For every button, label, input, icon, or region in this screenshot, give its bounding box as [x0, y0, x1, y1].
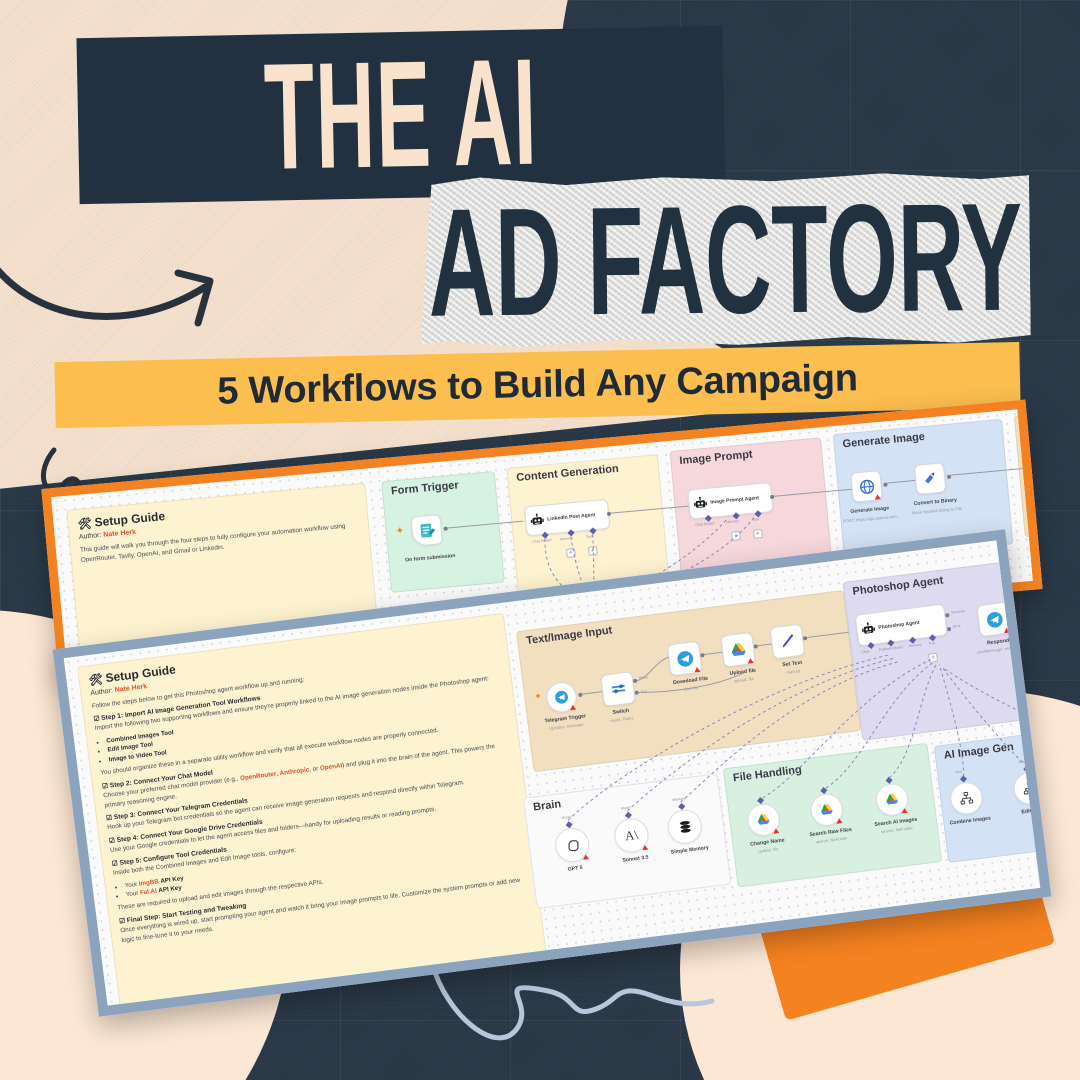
warning-icon [747, 658, 754, 664]
sticky-title-generate-image: Generate Image [842, 431, 925, 450]
node-label-photoshop-agent: Photoshop Agent [878, 620, 920, 631]
warning-icon [1003, 628, 1010, 634]
sticky-title-content-generation: Content Generation [516, 463, 619, 484]
sticky-title-image-prompt: Image Prompt [679, 449, 753, 468]
trigger-spark-icon: ✦ [395, 525, 404, 537]
node-download-file[interactable] [667, 641, 703, 677]
telegram-icon [675, 649, 694, 668]
hammer-and-wrench-icon: 🛠 [88, 674, 103, 688]
warning-icon [642, 845, 649, 851]
warning-icon [901, 808, 908, 814]
setup-guide-author-name-top: Nate Herk [103, 529, 136, 539]
sticky-title-text-image-input: Text/Image Input [526, 624, 613, 647]
warning-icon [773, 828, 780, 834]
warning-icon [582, 854, 589, 860]
sticky-title-form-trigger: Form Trigger [391, 479, 460, 497]
term-openai: OpenAI [320, 762, 343, 772]
sticky-title-photoshop-agent: Photoshop Agent [852, 574, 944, 597]
node-respond[interactable] [976, 601, 1012, 637]
form-icon [418, 521, 436, 539]
hammer-and-wrench-icon: 🛠 [77, 518, 92, 531]
setup-guide-note-bottom[interactable]: 🛠Setup Guide Author: Nate Herk Follow th… [77, 613, 547, 1006]
warning-icon [874, 494, 880, 500]
robot-icon [861, 621, 877, 637]
node-label-linkedin-post-agent: LinkedIn Post Agent [547, 512, 596, 522]
term-falai: Fal.AI [140, 887, 158, 896]
globe-icon [857, 477, 875, 495]
convert-icon [921, 469, 939, 487]
robot-icon [693, 496, 708, 511]
poster-title-line-2-text: AD FACTORY [427, 169, 1023, 352]
node-convert-to-binary[interactable] [914, 462, 947, 495]
warning-icon [694, 667, 701, 673]
robot-icon [530, 513, 545, 528]
node-set-text[interactable] [769, 624, 805, 660]
node-upload-file[interactable] [720, 632, 756, 668]
setup-guide-author-name-bottom: Nate Herk [114, 683, 147, 694]
pencil-icon [778, 632, 797, 651]
term-anthropic: Anthropic [279, 766, 309, 777]
node-label-image-prompt-agent: Image Prompt Agent [710, 495, 759, 505]
warning-icon [836, 818, 843, 824]
google-drive-icon [729, 640, 748, 659]
poster-title-line-2: AD FACTORY [419, 172, 1031, 348]
node-generate-image[interactable] [850, 470, 883, 503]
squiggle-doodle-bottom [420, 955, 750, 1065]
curved-arrow-doodle [0, 215, 290, 355]
node-on-form-submission[interactable] [410, 514, 443, 547]
telegram-icon [985, 610, 1004, 629]
poster-subtitle-text: 5 Workflows to Build Any Campaign [217, 357, 858, 413]
port-out-respond[interactable] [1010, 614, 1014, 618]
